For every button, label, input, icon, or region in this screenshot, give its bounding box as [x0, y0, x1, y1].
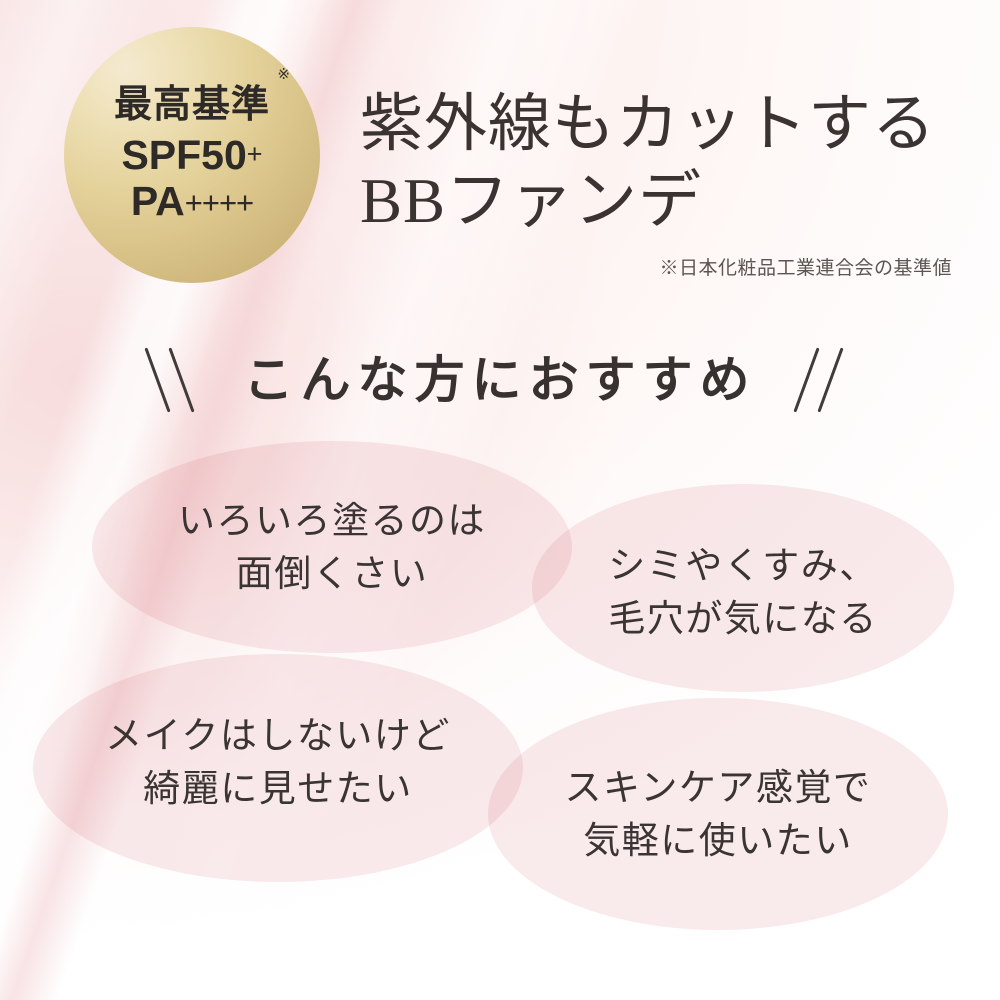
benefit-line-2: 面倒くさい: [92, 548, 572, 601]
benefit-bubble-group: いろいろ塗るのは 面倒くさい シミやくすみ、 毛穴が気になる メイクはしないけど…: [0, 0, 1000, 1000]
benefit-bubble-text: いろいろ塗るのは 面倒くさい: [92, 495, 572, 600]
benefit-line-1: いろいろ塗るのは: [92, 495, 572, 548]
promo-banner: 最高基準 ※ SPF50+ PA++++ 紫外線もカットする BBファンデ ※日…: [0, 0, 1000, 1000]
benefit-line-2: 毛穴が気になる: [532, 593, 954, 646]
benefit-line-2: 綺麗に見せたい: [33, 763, 523, 816]
benefit-line-1: スキンケア感覚で: [488, 762, 948, 815]
benefit-line-1: メイクはしないけど: [33, 710, 523, 763]
benefit-bubble-text: スキンケア感覚で 気軽に使いたい: [488, 762, 948, 867]
benefit-line-2: 気軽に使いたい: [488, 815, 948, 868]
benefit-bubble-text: メイクはしないけど 綺麗に見せたい: [33, 710, 523, 815]
benefit-line-1: シミやくすみ、: [532, 540, 954, 593]
benefit-bubble-text: シミやくすみ、 毛穴が気になる: [532, 540, 954, 645]
